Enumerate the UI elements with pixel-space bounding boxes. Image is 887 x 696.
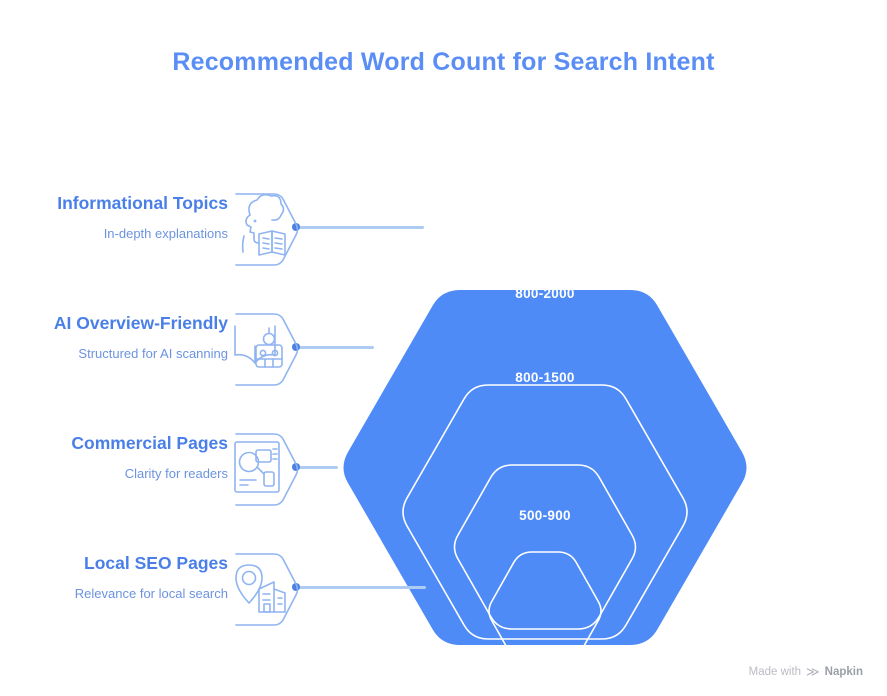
legend-label: AI Overview-Friendly	[0, 314, 228, 333]
legend-text-group: Local SEO Pages Relevance for local sear…	[0, 554, 228, 601]
map-pin-building-icon	[228, 548, 310, 632]
legend-text-group: AI Overview-Friendly Structured for AI s…	[0, 314, 228, 361]
legend-item-informational-topics[interactable]: Informational Topics In-depth explanatio…	[0, 194, 310, 290]
hexagon-outer-shape	[344, 290, 747, 645]
legend-item-commercial-pages[interactable]: Commercial Pages Clarity for readers	[0, 434, 310, 530]
napkin-brand-label: Napkin	[825, 666, 863, 678]
napkin-logo-icon: ≫	[806, 665, 820, 678]
page-title: Recommended Word Count for Search Intent	[0, 48, 887, 77]
legend-label: Local SEO Pages	[0, 554, 228, 573]
connector-line-4	[296, 586, 426, 589]
hexagon-value-2: 800-2000	[310, 286, 780, 301]
legend-text-group: Informational Topics In-depth explanatio…	[0, 194, 228, 241]
legend-label: Commercial Pages	[0, 434, 228, 453]
napkin-watermark: Made with ≫ Napkin	[749, 665, 863, 678]
legend-text-group: Commercial Pages Clarity for readers	[0, 434, 228, 481]
made-with-label: Made with	[749, 666, 801, 678]
person-reading-book-icon	[228, 188, 310, 272]
legend-item-local-seo-pages[interactable]: Local SEO Pages Relevance for local sear…	[0, 554, 310, 650]
legend-sublabel: Structured for AI scanning	[0, 346, 228, 361]
robot-book-icon	[228, 308, 310, 392]
hexagon-value-4: 500-900	[310, 508, 780, 523]
legend-label: Informational Topics	[0, 194, 228, 213]
diagram-canvas: Recommended Word Count for Search Intent…	[0, 0, 887, 696]
legend-item-ai-overview-friendly[interactable]: AI Overview-Friendly Structured for AI s…	[0, 314, 310, 410]
hexagon-svg	[310, 160, 780, 660]
page-layout-icon	[228, 428, 310, 512]
legend-sublabel: Clarity for readers	[0, 466, 228, 481]
legend-sublabel: Relevance for local search	[0, 586, 228, 601]
hexagon-value-1: 1500-2500	[310, 202, 780, 217]
nested-hexagon-chart: 1500-2500 800-2000 800-1500 500-900	[310, 160, 780, 660]
legend-sublabel: In-depth explanations	[0, 226, 228, 241]
connector-line-1	[296, 226, 424, 229]
hexagon-value-3: 800-1500	[310, 370, 780, 385]
